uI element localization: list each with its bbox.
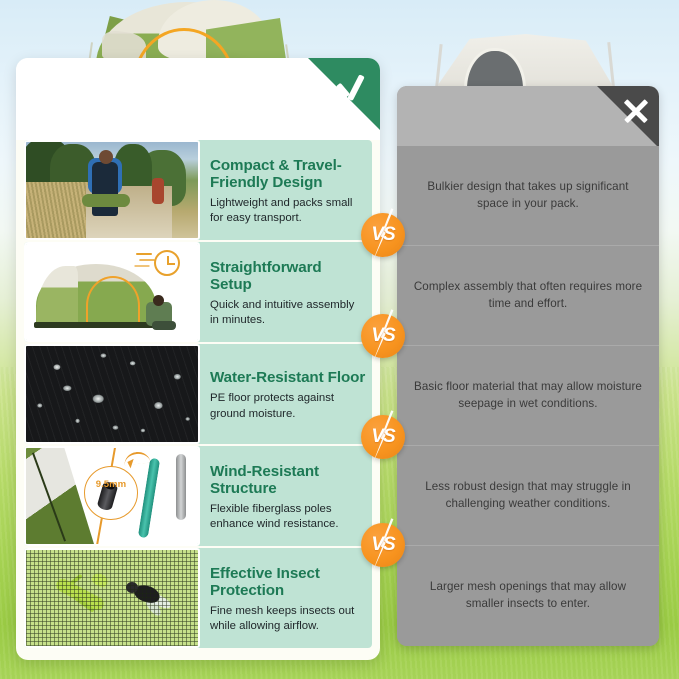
product-rows: Compact & Travel-Friendly Design Lightwe… [16, 140, 380, 646]
product-row: 9.5mm Wind-Resistant Structure Flexible … [24, 446, 372, 546]
vs-label: VS [361, 415, 405, 459]
x-badge [595, 86, 659, 150]
product-row-subtitle: PE floor protects against ground moistur… [210, 391, 366, 422]
product-row: Water-Resistant Floor PE floor protects … [24, 344, 372, 444]
product-row-copy: Straightforward Setup Quick and intuitiv… [200, 242, 372, 342]
pole-diameter-label: 9.5mm [84, 479, 138, 490]
vs-badge: VS [361, 523, 405, 567]
competitor-row-text: Bulkier design that takes up significant… [411, 179, 645, 213]
competitor-row: Complex assembly that often requires mor… [397, 246, 659, 346]
competitor-row-text: Basic floor material that may allow mois… [411, 379, 645, 413]
hiker-with-backpack-photo [24, 140, 200, 240]
vs-label: VS [361, 523, 405, 567]
vs-badge: VS [361, 415, 405, 459]
tent-setup-with-clock-photo [24, 242, 200, 342]
product-panel: Compact & Travel-Friendly Design Lightwe… [16, 58, 380, 660]
product-row-title: Effective Insect Protection [210, 565, 366, 599]
product-row-subtitle: Quick and intuitive assembly in minutes. [210, 298, 366, 329]
check-icon [334, 74, 368, 100]
competitor-row: Less robust design that may struggle in … [397, 446, 659, 546]
vs-label: VS [361, 213, 405, 257]
competitor-row: Basic floor material that may allow mois… [397, 346, 659, 446]
mesh-with-insects-photo [24, 548, 200, 648]
fiberglass-pole-diagram: 9.5mm [24, 446, 200, 546]
vs-badge: VS [361, 314, 405, 358]
competitor-rows: Bulkier design that takes up significant… [397, 146, 659, 646]
arrow-icon [123, 451, 150, 466]
product-row: Straightforward Setup Quick and intuitiv… [24, 242, 372, 342]
check-badge [308, 58, 380, 130]
product-panel-header [16, 58, 380, 140]
product-row-copy: Compact & Travel-Friendly Design Lightwe… [200, 140, 372, 240]
product-row: Compact & Travel-Friendly Design Lightwe… [24, 140, 372, 240]
competitor-row-text: Complex assembly that often requires mor… [411, 279, 645, 313]
clock-icon [154, 250, 180, 276]
vs-label: VS [361, 314, 405, 358]
product-row-subtitle: Lightweight and packs small for easy tra… [210, 196, 366, 227]
vs-badge: VS [361, 213, 405, 257]
product-row-copy: Wind-Resistant Structure Flexible fiberg… [200, 446, 372, 546]
product-row-copy: Water-Resistant Floor PE floor protects … [200, 344, 372, 444]
competitor-row: Bulkier design that takes up significant… [397, 146, 659, 246]
product-row-title: Straightforward Setup [210, 259, 366, 293]
close-icon [621, 96, 651, 126]
competitor-row-text: Less robust design that may struggle in … [411, 479, 645, 513]
competitor-row-text: Larger mesh openings that may allow smal… [411, 579, 645, 613]
competitor-row: Larger mesh openings that may allow smal… [397, 546, 659, 646]
product-row-title: Compact & Travel-Friendly Design [210, 157, 366, 191]
product-row-subtitle: Flexible fiberglass poles enhance wind r… [210, 502, 366, 533]
product-row-title: Wind-Resistant Structure [210, 463, 366, 497]
speed-lines-icon [136, 253, 152, 255]
competitor-panel-header [397, 86, 659, 146]
product-row: Effective Insect Protection Fine mesh ke… [24, 548, 372, 648]
competitor-panel: Bulkier design that takes up significant… [397, 86, 659, 646]
product-row-subtitle: Fine mesh keeps insects out while allowi… [210, 604, 366, 635]
water-beads-on-pe-floor-photo [24, 344, 200, 444]
product-row-title: Water-Resistant Floor [210, 369, 366, 386]
product-row-copy: Effective Insect Protection Fine mesh ke… [200, 548, 372, 648]
